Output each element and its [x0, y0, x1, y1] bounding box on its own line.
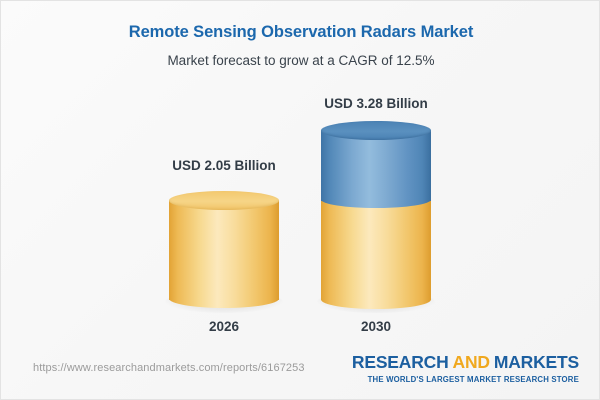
cylinder-base-segment-2030: [321, 197, 431, 300]
cylinder-bottom-cap-2026: [169, 289, 279, 308]
cylinder-bottom-cap-2030: [321, 290, 431, 309]
category-label-2030: 2030: [266, 319, 486, 334]
cylinder-2030[interactable]: [321, 121, 431, 309]
cylinder-segment-divider-2030: [321, 191, 431, 208]
logo-word-and: AND: [453, 352, 490, 372]
value-label-2030: USD 3.28 Billion: [266, 96, 486, 111]
report-url-link[interactable]: https://www.researchandmarkets.com/repor…: [33, 362, 305, 374]
logo-tagline: THE WORLD'S LARGEST MARKET RESEARCH STOR…: [352, 375, 579, 384]
cylinder-body-2026: [169, 200, 279, 300]
footer: https://www.researchandmarkets.com/repor…: [1, 344, 600, 399]
research-and-markets-logo[interactable]: RESEARCHANDMARKETS THE WORLD'S LARGEST M…: [352, 352, 579, 384]
bar-group-2026: USD 2.05 Billion 2026: [169, 1, 279, 346]
logo-word-markets: MARKETS: [494, 352, 579, 372]
logo-word-research: RESEARCH: [352, 352, 449, 372]
bar-group-2030: USD 3.28 Billion 2030: [321, 1, 431, 346]
value-label-2026: USD 2.05 Billion: [114, 158, 334, 173]
logo-wordmark: RESEARCHANDMARKETS: [352, 352, 579, 373]
cylinder-2026[interactable]: [169, 191, 279, 309]
plot-area: USD 2.05 Billion 2026 USD 3.28 Billion: [1, 1, 600, 346]
cylinder-top-cap-2030: [321, 121, 431, 140]
cylinder-top-cap-2026: [169, 191, 279, 210]
chart-card: Remote Sensing Observation Radars Market…: [0, 0, 600, 400]
